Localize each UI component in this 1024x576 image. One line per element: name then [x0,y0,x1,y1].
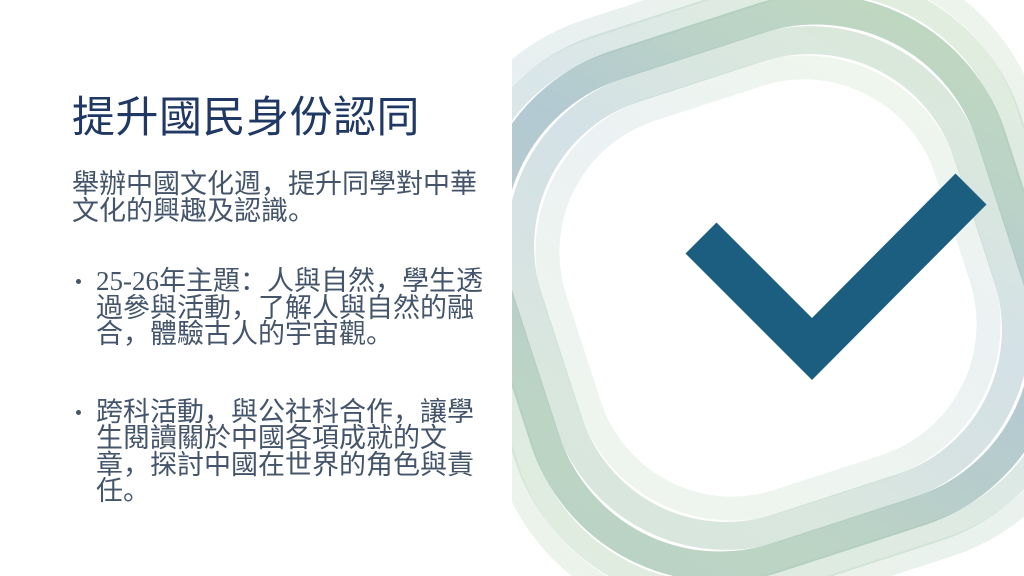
check-mark-shape [686,174,987,381]
slide-text-column: 提升國民身份認同 舉辦中國文化週，提升同學對中華文化的興趣及認識。 25-26年… [0,0,500,576]
slide-bullet-list: 25-26年主題：人與自然，學生透過參與活動，了解人與自然的融合，體驗古人的宇宙… [72,268,492,505]
bullet-dot-icon [76,410,81,415]
ring-inner-mid [512,0,1024,576]
slide-intro-block: 舉辦中國文化週，提升同學對中華文化的興趣及認識。 [72,171,484,224]
list-item: 25-26年主題：人與自然，學生透過參與活動，了解人與自然的融合，體驗古人的宇宙… [72,268,492,348]
slide-title: 提升國民身份認同 [72,96,492,142]
ring-inner-faint [512,28,1024,547]
bullet-text: 25-26年主題：人與自然，學生透過參與活動，了解人與自然的融合，體驗古人的宇宙… [96,268,492,348]
bullet-text: 跨科活動，與公社科合作，讓學生閱讀關於中國各項成就的文章，探討中國在世界的角色與… [96,399,492,505]
list-item: 跨科活動，與公社科合作，讓學生閱讀關於中國各項成就的文章，探討中國在世界的角色與… [72,399,492,505]
ring-outer [512,0,1024,576]
bullet-dot-icon [76,279,81,284]
presentation-slide: 提升國民身份認同 舉辦中國文化週，提升同學對中華文化的興趣及認識。 25-26年… [0,0,1024,576]
checkmark-badge-graphic [512,0,1024,576]
ring-outer-faint [512,0,1024,576]
ring-main [512,0,1024,576]
badge-rings [512,0,1024,576]
intro-paragraph: 舉辦中國文化週，提升同學對中華文化的興趣及認識。 [72,171,484,224]
checkmark-badge-svg [512,0,1024,576]
